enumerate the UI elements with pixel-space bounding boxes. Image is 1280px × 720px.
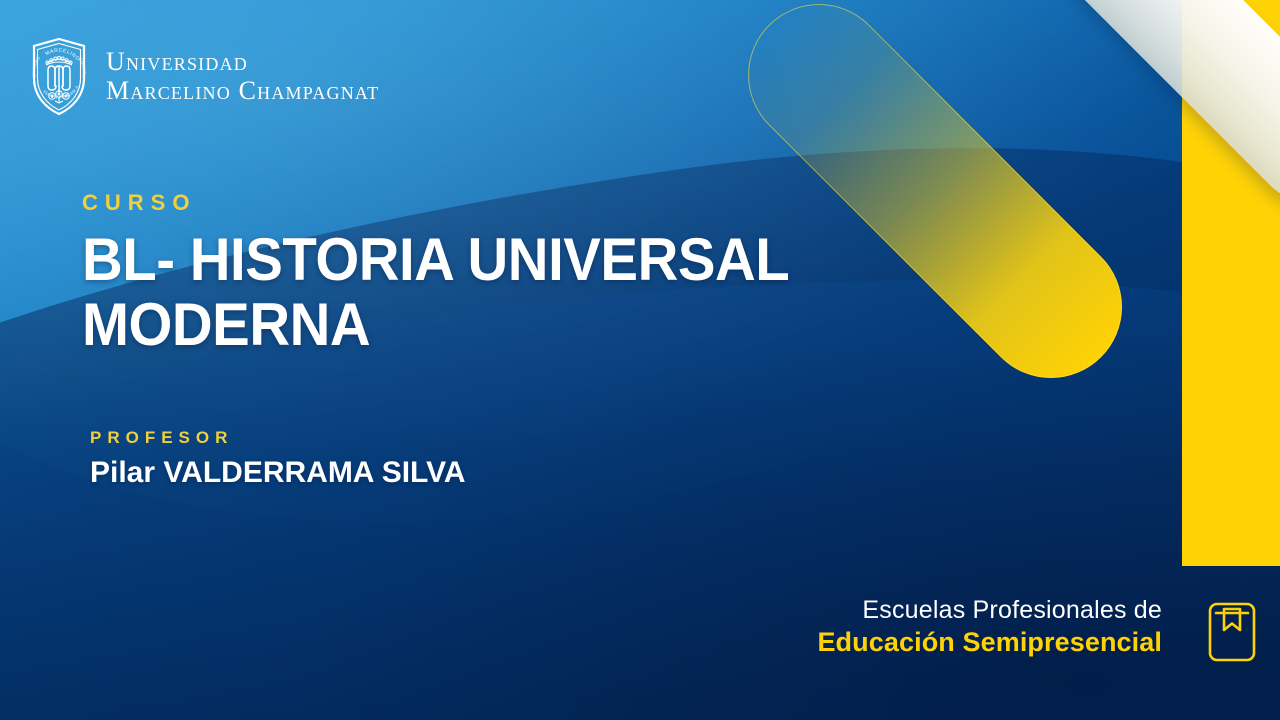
professor-name: Pilar VALDERRAMA SILVA [90, 456, 466, 490]
course-title-line-2: MODERNA [82, 293, 834, 358]
professor-block: PROFESOR Pilar VALDERRAMA SILVA [90, 428, 466, 490]
footer-line-1: Escuelas Profesionales de [817, 594, 1162, 626]
footer-block: Escuelas Profesionales de Educación Semi… [817, 594, 1162, 658]
course-title-slide: MARCELINO SUPER PETRAM AEDIFICABO UNIVER… [0, 0, 1280, 720]
book-bookmark-icon [1204, 600, 1260, 664]
course-eyebrow-label: CURSO [82, 190, 882, 216]
professor-label: PROFESOR [90, 428, 466, 448]
university-name-line-2: Marcelino Champagnat [106, 76, 379, 105]
university-logo-text: Universidad Marcelino Champagnat [106, 47, 379, 105]
university-logo: MARCELINO SUPER PETRAM AEDIFICABO UNIVER… [26, 34, 379, 118]
course-block: CURSO BL- HISTORIA UNIVERSAL MODERNA [82, 190, 882, 358]
university-crest-icon: MARCELINO SUPER PETRAM AEDIFICABO UNIVER… [26, 34, 92, 118]
footer-line-2: Educación Semipresencial [817, 626, 1162, 658]
university-name-line-1: Universidad [106, 47, 379, 76]
course-title-line-1: BL- HISTORIA UNIVERSAL [82, 228, 834, 293]
